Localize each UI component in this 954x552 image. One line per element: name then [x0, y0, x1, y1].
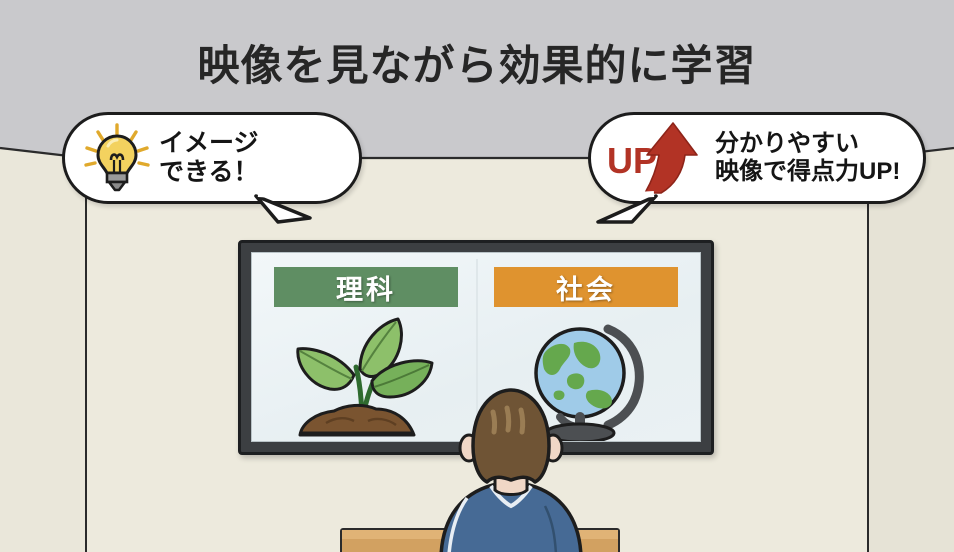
up-arrow-icon: UP!	[605, 121, 713, 195]
illustration-scene: 映像を見ながら効果的に学習 理科	[0, 0, 954, 552]
lightbulb-icon	[81, 122, 153, 194]
speech-bubble-left: イメージ できる！	[62, 112, 362, 204]
panel-header-science: 理科	[274, 267, 458, 307]
wall-corner-right	[867, 158, 869, 552]
speech-bubble-left-tail	[248, 188, 328, 248]
bubble-right-line2: 映像で得点力UP!	[715, 158, 900, 186]
bubble-left-line2: できる！	[159, 158, 259, 188]
panel-header-social-studies: 社会	[494, 267, 678, 307]
speech-bubble-right-tail	[580, 188, 670, 248]
speech-bubble-right: UP! 分かりやすい 映像で得点力UP!	[588, 112, 926, 204]
speech-bubble-left-text: イメージ できる！	[159, 129, 259, 188]
bubble-left-line1: イメージ	[159, 129, 259, 157]
page-title: 映像を見ながら効果的に学習	[0, 32, 954, 93]
speech-bubble-right-text: 分かりやすい 映像で得点力UP!	[715, 130, 900, 187]
bubble-right-line1: 分かりやすい	[715, 130, 859, 157]
student-figure-icon	[395, 386, 627, 552]
student-back-view	[395, 386, 627, 552]
wall-corner-left	[85, 158, 87, 552]
